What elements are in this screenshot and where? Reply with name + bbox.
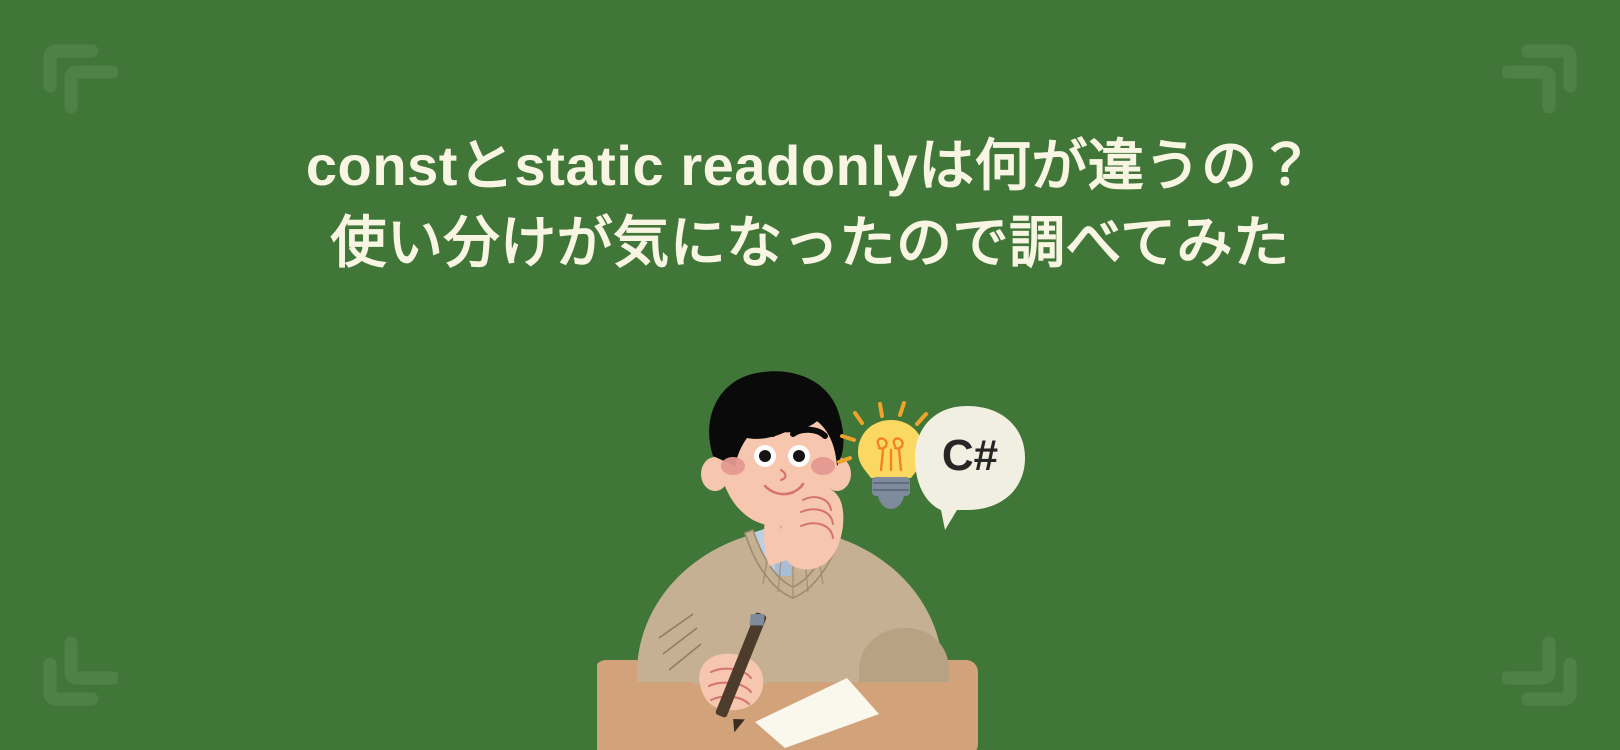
title-line-2: 使い分けが気になったので調べてみた bbox=[60, 205, 1560, 282]
corner-bracket-bottom-right bbox=[1502, 632, 1580, 710]
page-title: constとstatic readonlyは何が違うの？ 使い分けが気になったの… bbox=[0, 128, 1620, 281]
speech-bubble-label: C# bbox=[942, 431, 998, 480]
thinking-hand-graphic bbox=[764, 486, 843, 570]
illustration-person-thinking-and-writing: C# bbox=[597, 370, 1037, 750]
banner-root: constとstatic readonlyは何が違うの？ 使い分けが気になったの… bbox=[0, 0, 1620, 750]
corner-bracket-bottom-left bbox=[40, 632, 118, 710]
title-line-1: constとstatic readonlyは何が違うの？ bbox=[60, 128, 1560, 205]
speech-bubble: C# bbox=[915, 406, 1025, 530]
corner-bracket-top-left bbox=[40, 40, 118, 118]
corner-bracket-top-right bbox=[1502, 40, 1580, 118]
